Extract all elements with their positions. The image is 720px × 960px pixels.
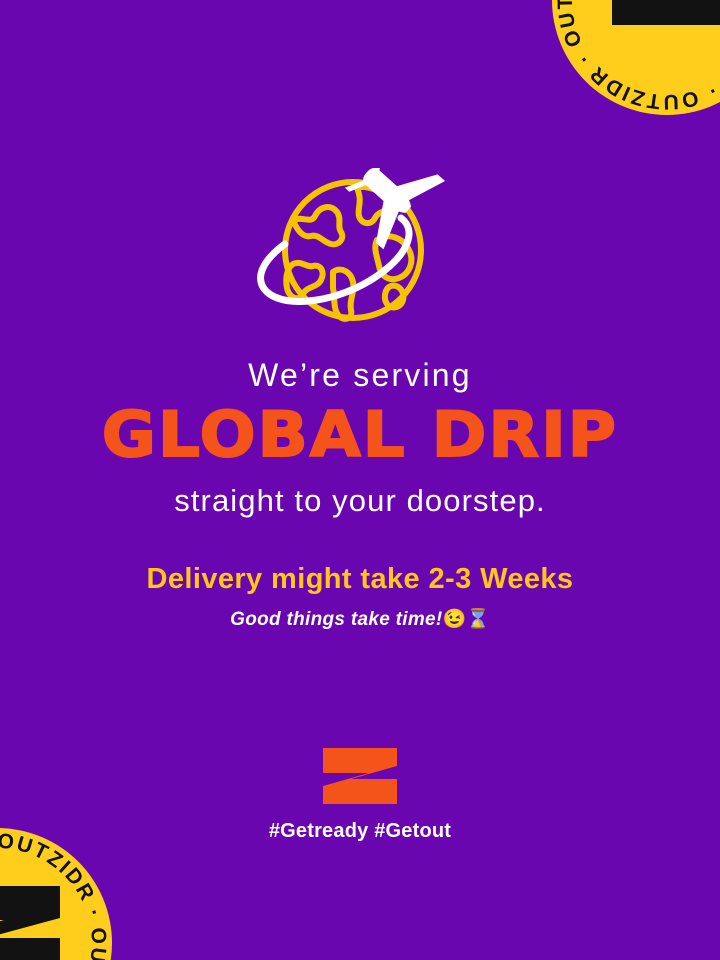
globe-with-airplane-icon xyxy=(241,168,479,348)
brand-stamp-bottom-left: OUTZIDR · OUTZIDR · OUTZIDR · OUTZIDR · … xyxy=(0,828,112,960)
z-monogram-icon xyxy=(319,746,401,806)
tagline-emoji: 😉⌛ xyxy=(443,609,490,630)
tagline-text: Good things take time! xyxy=(230,609,442,630)
hashtags-text: #Getready #Getout xyxy=(0,820,720,843)
kicker-text: We’re serving xyxy=(0,358,720,393)
brand-stamp-icon: OUTZIDR · OUTZIDR · OUTZIDR · OUTZIDR · … xyxy=(0,828,112,960)
headline-text: GLOBAL DRIP xyxy=(0,402,720,467)
poster-canvas: OUTZIDR · OUTZIDR · OUTZIDR · OUTZIDR · … xyxy=(0,0,720,960)
subline-text: straight to your doorstep. xyxy=(0,484,720,518)
brand-stamp-icon: OUTZIDR · OUTZIDR · OUTZIDR · OUTZIDR · xyxy=(552,0,720,115)
hero-illustration xyxy=(0,168,720,348)
delivery-note: Delivery might take 2-3 Weeks xyxy=(0,564,720,596)
poster-footer: #Getready #Getout xyxy=(0,746,720,843)
stamp-monogram-icon xyxy=(612,0,720,25)
brand-stamp-top-right: OUTZIDR · OUTZIDR · OUTZIDR · OUTZIDR · xyxy=(552,0,720,115)
tagline: Good things take time!😉⌛ xyxy=(0,609,720,632)
poster-copy: We’re serving GLOBAL DRIP straight to yo… xyxy=(0,358,720,632)
